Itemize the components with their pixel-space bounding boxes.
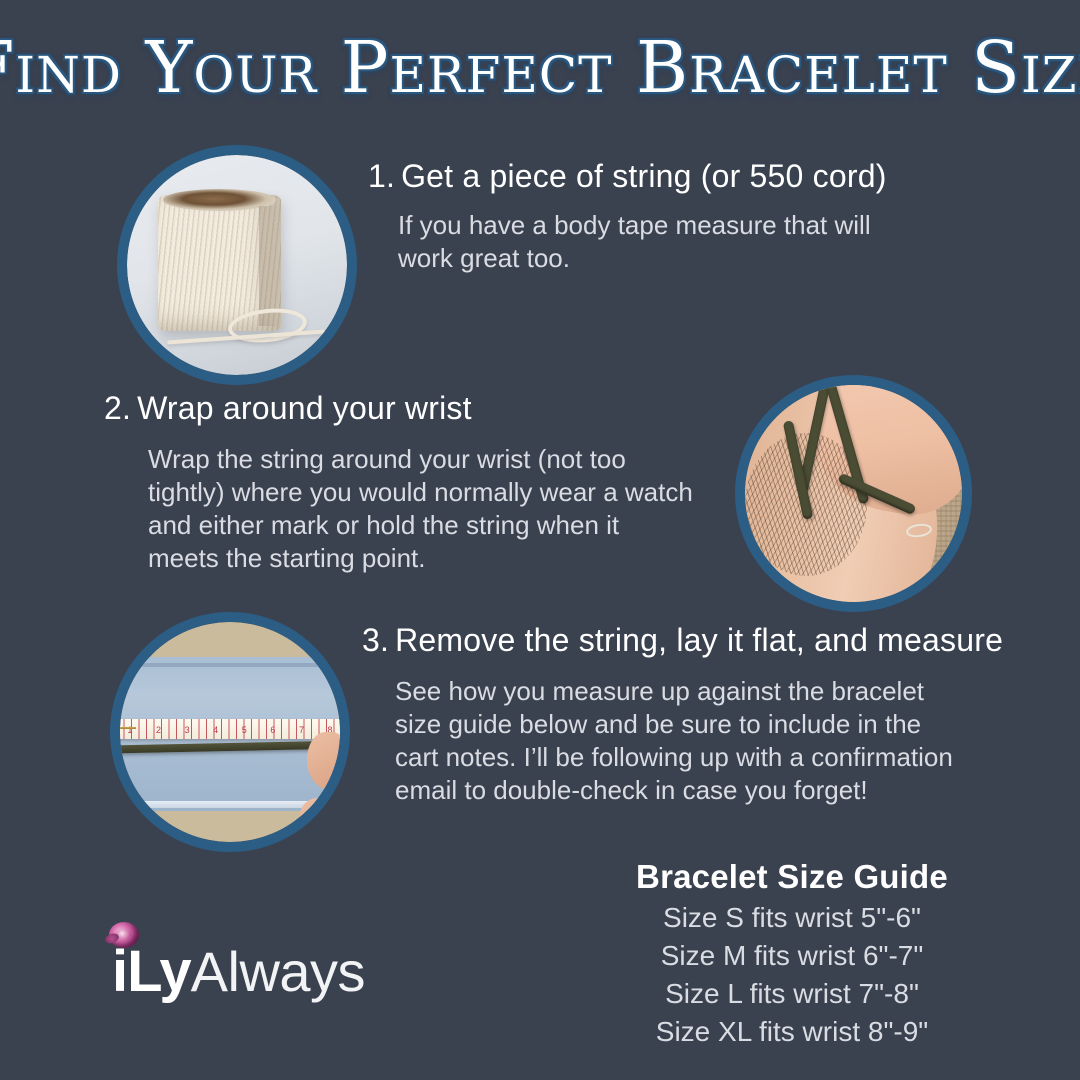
step-2: 2. Wrap around your wrist Wrap the strin… — [104, 390, 704, 575]
measuring-tape-image-inner: 12345678 — [120, 622, 340, 842]
measuring-tape-photo: 12345678 — [110, 612, 350, 852]
tape-number-labels: 12345678 — [120, 723, 340, 737]
size-guide-lines: Size S fits wrist 5"-6"Size M fits wrist… — [592, 902, 992, 1048]
page-title-container: Find Your Perfect Bracelet Size — [0, 22, 1080, 112]
size-guide-title: Bracelet Size Guide — [592, 858, 992, 896]
bracelet-size-guide: Bracelet Size Guide Size S fits wrist 5"… — [592, 858, 992, 1048]
cord-around-wrist-photo — [735, 375, 972, 612]
tape-number: 3 — [185, 725, 190, 735]
size-guide-line: Size M fits wrist 6"-7" — [592, 940, 992, 972]
finger-shape — [300, 798, 335, 833]
step-1-heading: 1. Get a piece of string (or 550 cord) — [368, 158, 928, 195]
tape-number: 4 — [213, 725, 218, 735]
step-3-body: See how you measure up against the brace… — [395, 675, 955, 807]
step-2-heading: 2. Wrap around your wrist — [104, 390, 704, 427]
step-3-number: 3. — [362, 622, 389, 659]
step-3: 3. Remove the string, lay it flat, and m… — [362, 622, 1002, 807]
step-2-heading-text: Wrap around your wrist — [137, 390, 472, 427]
tape-measure-shape: 12345678 — [120, 719, 340, 739]
step-1-heading-text: Get a piece of string (or 550 cord) — [401, 158, 886, 195]
tape-number: 6 — [270, 725, 275, 735]
step-2-number: 2. — [104, 390, 131, 427]
brand-logo[interactable]: iLy Always — [112, 938, 365, 1010]
cord-around-wrist-image-inner — [745, 385, 962, 602]
step-3-heading: 3. Remove the string, lay it flat, and m… — [362, 622, 1002, 659]
brand-logo-bold-text: iLy — [112, 938, 191, 1005]
tape-number: 7 — [299, 725, 304, 735]
brand-logo-row: iLy Always — [112, 938, 365, 1005]
step-1-number: 1. — [368, 158, 395, 195]
step-3-heading-text: Remove the string, lay it flat, and meas… — [395, 622, 1003, 659]
size-guide-line: Size L fits wrist 7"-8" — [592, 978, 992, 1010]
brand-logo-light-text: Always — [191, 939, 365, 1004]
size-guide-line: Size XL fits wrist 8"-9" — [592, 1016, 992, 1048]
step-1: 1. Get a piece of string (or 550 cord) I… — [368, 158, 928, 275]
step-2-body: Wrap the string around your wrist (not t… — [148, 443, 696, 575]
spool-of-string-photo — [117, 145, 357, 385]
tape-end-clip — [120, 727, 136, 729]
size-guide-line: Size S fits wrist 5"-6" — [592, 902, 992, 934]
rose-icon — [109, 922, 139, 948]
page-title: Find Your Perfect Bracelet Size — [0, 32, 1080, 103]
tape-number: 2 — [156, 725, 161, 735]
spool-of-string-image-inner — [127, 155, 347, 375]
tape-number: 5 — [242, 725, 247, 735]
step-1-body: If you have a body tape measure that wil… — [398, 209, 898, 275]
